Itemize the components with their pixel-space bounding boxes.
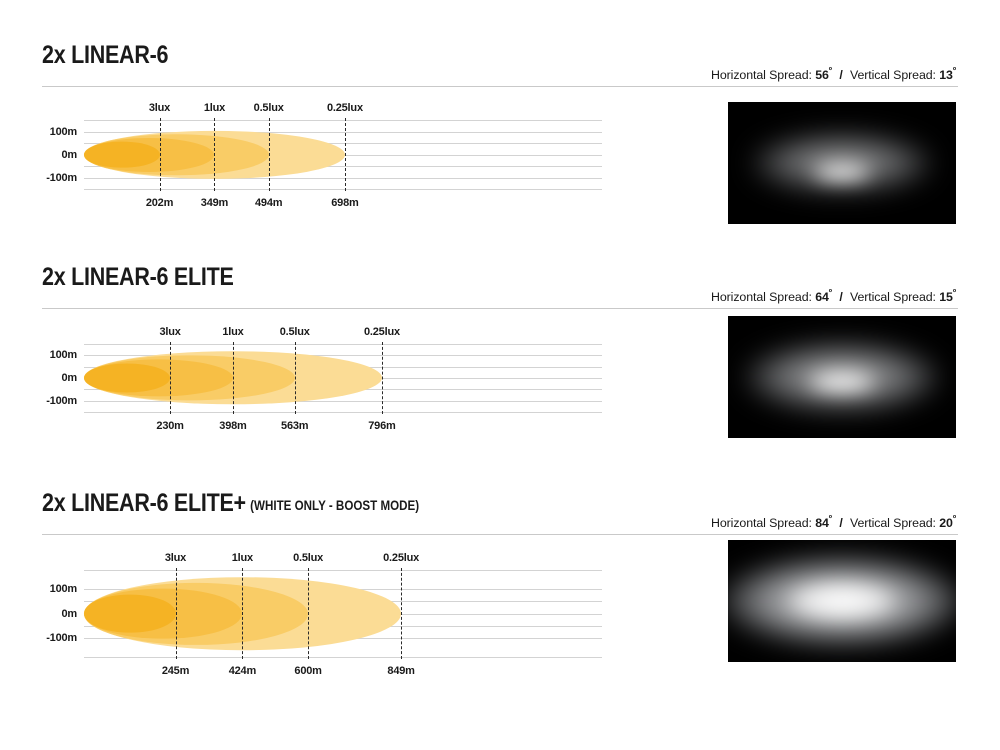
- beam-ellipse-3lux: [84, 594, 176, 633]
- beam-ellipse-3lux: [84, 364, 170, 393]
- lux-tick-line: [401, 568, 402, 659]
- vertical-spread-label: Vertical Spread:: [850, 68, 936, 82]
- beam-ellipse-3lux: [84, 141, 160, 168]
- spread-separator: /: [835, 516, 846, 530]
- section-divider: [42, 86, 958, 87]
- page-title: 2x LINEAR-6 ELITE: [42, 262, 238, 296]
- y-axis-label: -100m: [46, 632, 77, 644]
- title-text: 2x LINEAR-6: [42, 41, 168, 69]
- distance-label: 698m: [331, 197, 358, 209]
- lux-level-label: 0.25lux: [364, 326, 400, 338]
- beam-halo: [753, 134, 931, 193]
- lux-level-label: 3lux: [159, 326, 180, 338]
- beam-photo: [728, 316, 956, 438]
- lux-level-label: 1lux: [222, 326, 243, 338]
- horizontal-spread-label: Horizontal Spread:: [711, 290, 812, 304]
- spread-info: Horizontal Spread: 56º / Vertical Spread…: [711, 65, 956, 82]
- vertical-spread-value: 20: [939, 516, 953, 530]
- spread-info: Horizontal Spread: 84º / Vertical Spread…: [711, 513, 956, 530]
- lux-tick-line: [242, 568, 243, 659]
- spread-info: Horizontal Spread: 64º / Vertical Spread…: [711, 287, 956, 304]
- vertical-spread-value: 13: [939, 68, 953, 82]
- title-suffix: [168, 50, 172, 65]
- degree-icon: º: [953, 287, 956, 297]
- degree-icon: º: [829, 513, 832, 523]
- product-section-linear-6: 2x LINEAR-6 Horizontal Spread: 56º / Ver…: [0, 40, 1000, 80]
- lux-level-label: 3lux: [165, 552, 186, 564]
- y-axis-label: -100m: [46, 172, 77, 184]
- horizontal-spread-value: 64: [815, 290, 829, 304]
- gridline: [84, 120, 602, 121]
- gridline: [84, 178, 602, 179]
- lux-level-label: 0.5lux: [293, 552, 323, 564]
- chart-plot-area: 100m0m-100m3lux245m1lux424m0.5lux600m0.2…: [84, 570, 602, 657]
- horizontal-spread-label: Horizontal Spread:: [711, 68, 812, 82]
- lux-tick-line: [214, 118, 215, 191]
- title-text: 2x LINEAR-6 ELITE+: [42, 489, 246, 517]
- lux-tick-line: [345, 118, 346, 191]
- lux-tick-line: [170, 342, 171, 414]
- distance-label: 563m: [281, 420, 308, 432]
- distance-label: 796m: [368, 420, 395, 432]
- y-axis-label: 0m: [62, 608, 78, 620]
- page-title: 2x LINEAR-6: [42, 40, 173, 74]
- section-header: 2x LINEAR-6 Horizontal Spread: 56º / Ver…: [0, 40, 1000, 80]
- section-header: 2x LINEAR-6 ELITE+(WHITE ONLY - BOOST MO…: [0, 488, 1000, 528]
- y-axis-label: -100m: [46, 395, 77, 407]
- chart-plot-area: 100m0m-100m3lux202m1lux349m0.5lux494m0.2…: [84, 120, 602, 189]
- chart-plot-area: 100m0m-100m3lux230m1lux398m0.5lux563m0.2…: [84, 344, 602, 412]
- gridline: [84, 570, 602, 571]
- y-axis-label: 0m: [62, 149, 78, 161]
- horizontal-spread-label: Horizontal Spread:: [711, 516, 812, 530]
- beam-hotspot: [808, 372, 876, 393]
- title-text: 2x LINEAR-6 ELITE: [42, 263, 234, 291]
- distance-label: 398m: [219, 420, 246, 432]
- section-header: 2x LINEAR-6 ELITE Horizontal Spread: 64º…: [0, 262, 1000, 302]
- distance-label: 202m: [146, 197, 173, 209]
- lux-tick-line: [295, 342, 296, 414]
- title-suffix: (WHITE ONLY - BOOST MODE): [246, 498, 419, 513]
- spread-separator: /: [835, 68, 846, 82]
- y-axis-label: 100m: [50, 126, 77, 138]
- spread-separator: /: [835, 290, 846, 304]
- gridline: [84, 412, 602, 413]
- beam-photo: [728, 540, 956, 662]
- lux-level-label: 3lux: [149, 102, 170, 114]
- product-section-linear-6-elite: 2x LINEAR-6 ELITE Horizontal Spread: 64º…: [0, 262, 1000, 302]
- lux-level-label: 0.25lux: [383, 552, 419, 564]
- y-axis-label: 100m: [50, 583, 77, 595]
- horizontal-spread-value: 56: [815, 68, 829, 82]
- distance-label: 424m: [229, 665, 256, 677]
- gridline: [84, 657, 602, 658]
- beam-photo: [728, 102, 956, 224]
- lux-tick-line: [269, 118, 270, 191]
- lux-level-label: 1lux: [204, 102, 225, 114]
- lux-tick-line: [176, 568, 177, 659]
- distance-label: 245m: [162, 665, 189, 677]
- gridline: [84, 344, 602, 345]
- degree-icon: º: [829, 65, 832, 75]
- degree-icon: º: [953, 513, 956, 523]
- lux-tick-line: [233, 342, 234, 414]
- lux-level-label: 1lux: [232, 552, 253, 564]
- y-axis-label: 0m: [62, 372, 78, 384]
- beam-pattern-datasheet: 2x LINEAR-6 Horizontal Spread: 56º / Ver…: [0, 0, 1000, 750]
- distance-label: 230m: [156, 420, 183, 432]
- horizontal-spread-value: 84: [815, 516, 829, 530]
- product-section-linear-6-elite-plus: 2x LINEAR-6 ELITE+(WHITE ONLY - BOOST MO…: [0, 488, 1000, 528]
- degree-icon: º: [953, 65, 956, 75]
- section-divider: [42, 534, 958, 535]
- lux-level-label: 0.5lux: [254, 102, 284, 114]
- lux-tick-line: [160, 118, 161, 191]
- y-axis-label: 100m: [50, 349, 77, 361]
- beam-distance-chart: 100m0m-100m3lux230m1lux398m0.5lux563m0.2…: [42, 318, 602, 446]
- gridline: [84, 189, 602, 190]
- lux-tick-line: [308, 568, 309, 659]
- title-suffix: [234, 272, 238, 287]
- beam-distance-chart: 100m0m-100m3lux202m1lux349m0.5lux494m0.2…: [42, 96, 602, 221]
- distance-label: 349m: [201, 197, 228, 209]
- beam-hotspot: [790, 585, 895, 617]
- vertical-spread-label: Vertical Spread:: [850, 290, 936, 304]
- lux-level-label: 0.5lux: [280, 326, 310, 338]
- distance-label: 849m: [387, 665, 414, 677]
- lux-tick-line: [382, 342, 383, 414]
- distance-label: 494m: [255, 197, 282, 209]
- distance-label: 600m: [294, 665, 321, 677]
- beam-distance-chart: 100m0m-100m3lux245m1lux424m0.5lux600m0.2…: [42, 540, 602, 695]
- vertical-spread-label: Vertical Spread:: [850, 516, 936, 530]
- vertical-spread-value: 15: [939, 290, 953, 304]
- section-divider: [42, 308, 958, 309]
- degree-icon: º: [829, 287, 832, 297]
- page-title: 2x LINEAR-6 ELITE+(WHITE ONLY - BOOST MO…: [42, 488, 419, 522]
- lux-level-label: 0.25lux: [327, 102, 363, 114]
